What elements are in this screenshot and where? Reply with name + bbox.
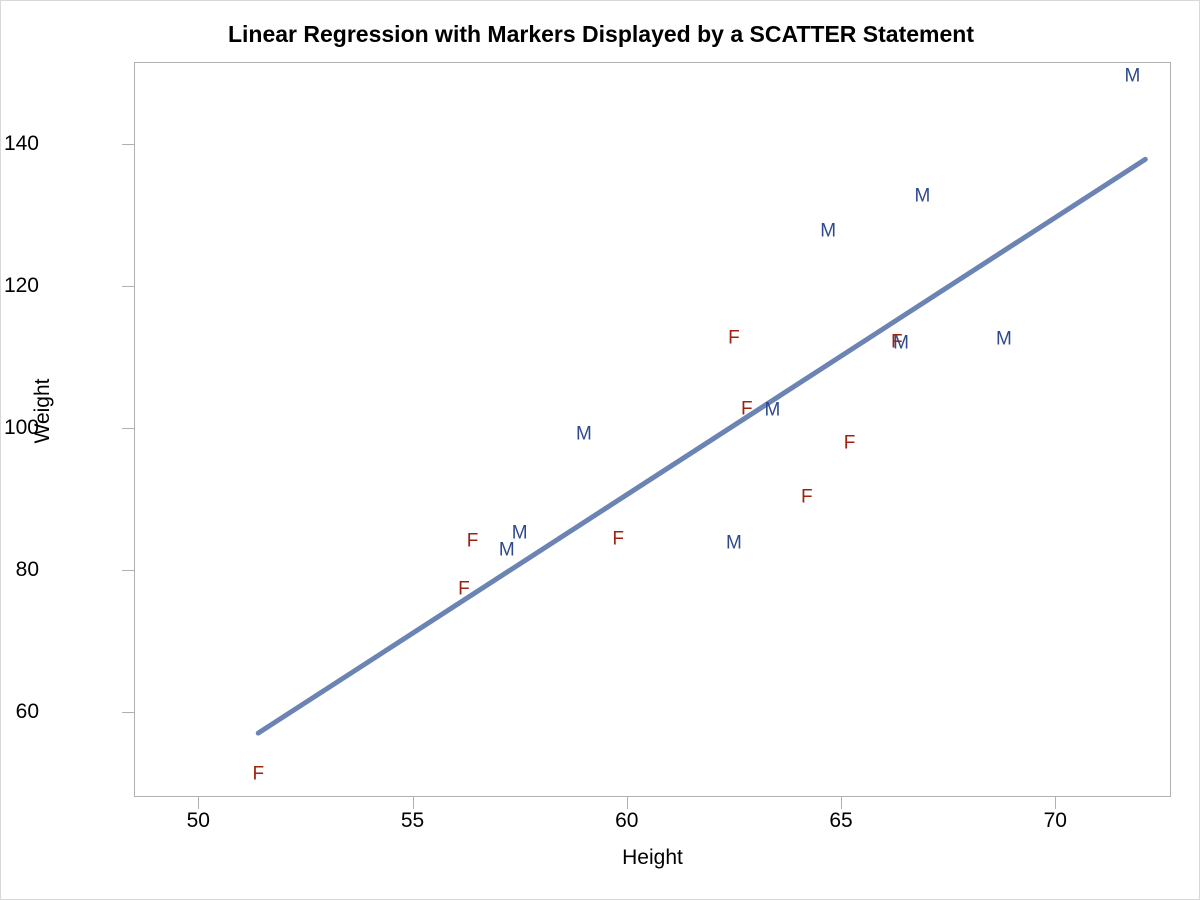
- scatter-marker-f: F: [801, 488, 813, 507]
- scatter-marker-m: M: [726, 533, 742, 552]
- scatter-marker-f: F: [458, 579, 470, 598]
- x-tick-mark: [413, 797, 414, 809]
- y-tick-mark: [122, 712, 134, 713]
- scatter-marker-m: M: [576, 425, 592, 444]
- scatter-marker-m: M: [512, 523, 528, 542]
- page-title: Linear Regression with Markers Displayed…: [1, 21, 1200, 48]
- x-tick-label: 60: [615, 809, 638, 833]
- y-tick-label: 80: [16, 558, 39, 582]
- scatter-marker-m: M: [765, 400, 781, 419]
- plot-area: MMMMMMMMMMFFFFFFFFF: [134, 62, 1171, 797]
- y-tick-mark: [122, 428, 134, 429]
- scatter-marker-m: M: [915, 186, 931, 205]
- x-tick-mark: [1055, 797, 1056, 809]
- scatter-marker-f: F: [728, 329, 740, 348]
- x-tick-label: 65: [829, 809, 852, 833]
- scatter-marker-f: F: [891, 332, 903, 351]
- x-tick-label: 70: [1044, 809, 1067, 833]
- x-tick-label: 50: [187, 809, 210, 833]
- scatter-marker-f: F: [252, 764, 264, 783]
- regression-line: [134, 62, 1171, 797]
- scatter-marker-m: M: [996, 329, 1012, 348]
- x-tick-mark: [627, 797, 628, 809]
- y-tick-mark: [122, 286, 134, 287]
- scatter-marker-f: F: [741, 399, 753, 418]
- x-tick-mark: [841, 797, 842, 809]
- y-tick-mark: [122, 570, 134, 571]
- y-tick-mark: [122, 144, 134, 145]
- y-tick-label: 60: [16, 700, 39, 724]
- scatter-marker-f: F: [467, 531, 479, 550]
- x-axis-title: Height: [134, 846, 1171, 870]
- y-axis-title: Weight: [31, 351, 55, 471]
- x-tick-mark: [198, 797, 199, 809]
- scatter-marker-m: M: [820, 222, 836, 241]
- y-tick-label: 140: [4, 132, 39, 156]
- scatter-marker-f: F: [844, 433, 856, 452]
- scatter-marker-m: M: [1125, 67, 1141, 86]
- chart-page: Linear Regression with Markers Displayed…: [0, 0, 1200, 900]
- scatter-marker-f: F: [612, 530, 624, 549]
- x-tick-label: 55: [401, 809, 424, 833]
- y-tick-label: 120: [4, 274, 39, 298]
